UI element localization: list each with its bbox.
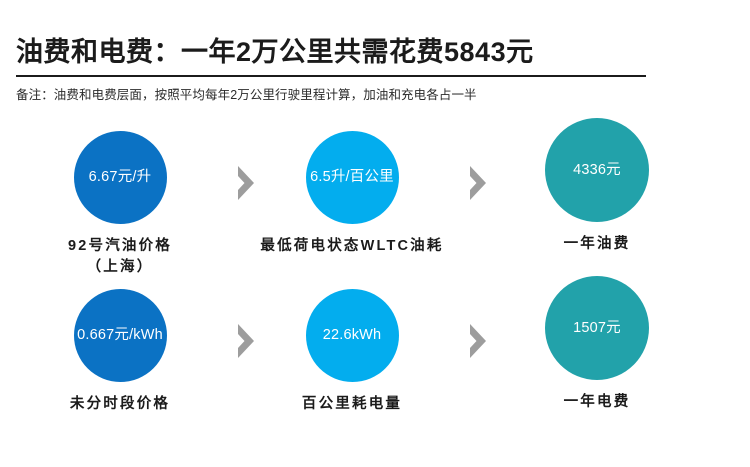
caption-line: 未分时段价格 <box>70 396 170 412</box>
chevron-right-icon <box>234 322 258 360</box>
bubble-value: 1507元 <box>573 320 621 337</box>
bubble-gasoline-price: 6.67元/升 <box>74 131 167 224</box>
node-energy-consumption: 22.6kWh 百公里耗电量 <box>257 289 447 415</box>
header: 油费和电费：一年2万公里共需花费5843元 备注：油费和电费层面，按照平均每年2… <box>16 36 716 103</box>
fuel-cost-row: 6.67元/升 92号汽油价格 （上海） 6.5升/百公里 最低荷电状态WLTC… <box>0 112 750 282</box>
bubble-wltc-consumption: 6.5升/百公里 <box>306 131 399 224</box>
page-title: 油费和电费：一年2万公里共需花费5843元 <box>16 36 716 74</box>
caption-line: 最低荷电状态WLTC油耗 <box>260 238 443 254</box>
infographic-canvas: 油费和电费：一年2万公里共需花费5843元 备注：油费和电费层面，按照平均每年2… <box>0 0 750 467</box>
chevron-right-icon <box>466 322 490 360</box>
bubble-value: 0.667元/kWh <box>77 327 163 344</box>
node-annual-fuel-cost: 4336元 一年油费 <box>543 118 651 255</box>
caption-line: 百公里耗电量 <box>302 396 402 412</box>
bubble-annual-fuel-cost: 4336元 <box>545 118 649 222</box>
caption-energy-consumption: 百公里耗电量 <box>257 394 447 415</box>
title-underline <box>16 75 646 77</box>
node-annual-electricity-cost: 1507元 一年电费 <box>543 276 651 413</box>
caption-electricity-price: 未分时段价格 <box>58 394 182 415</box>
bubble-value: 22.6kWh <box>323 327 382 344</box>
electricity-cost-row: 0.667元/kWh 未分时段价格 22.6kWh 百公里耗电量 <box>0 270 750 440</box>
chevron-right-icon <box>466 164 490 202</box>
bubble-value: 4336元 <box>573 162 621 179</box>
node-gasoline-price: 6.67元/升 92号汽油价格 （上海） <box>58 131 182 278</box>
caption-line: 92号汽油价格 <box>68 238 172 254</box>
bubble-electricity-price: 0.667元/kWh <box>74 289 167 382</box>
bubble-value: 6.67元/升 <box>89 169 152 186</box>
note-text: 备注：油费和电费层面，按照平均每年2万公里行驶里程计算，加油和充电各占一半 <box>16 87 716 103</box>
node-electricity-price: 0.667元/kWh 未分时段价格 <box>58 289 182 415</box>
bubble-energy-consumption: 22.6kWh <box>306 289 399 382</box>
bubble-value: 6.5升/百公里 <box>310 169 394 186</box>
node-wltc-consumption: 6.5升/百公里 最低荷电状态WLTC油耗 <box>247 131 457 257</box>
bubble-annual-electricity-cost: 1507元 <box>545 276 649 380</box>
caption-annual-fuel-cost: 一年油费 <box>543 234 651 255</box>
caption-line: 一年油费 <box>564 236 631 252</box>
caption-wltc-consumption: 最低荷电状态WLTC油耗 <box>247 236 457 257</box>
caption-annual-electricity-cost: 一年电费 <box>543 392 651 413</box>
caption-line: 一年电费 <box>564 394 631 410</box>
